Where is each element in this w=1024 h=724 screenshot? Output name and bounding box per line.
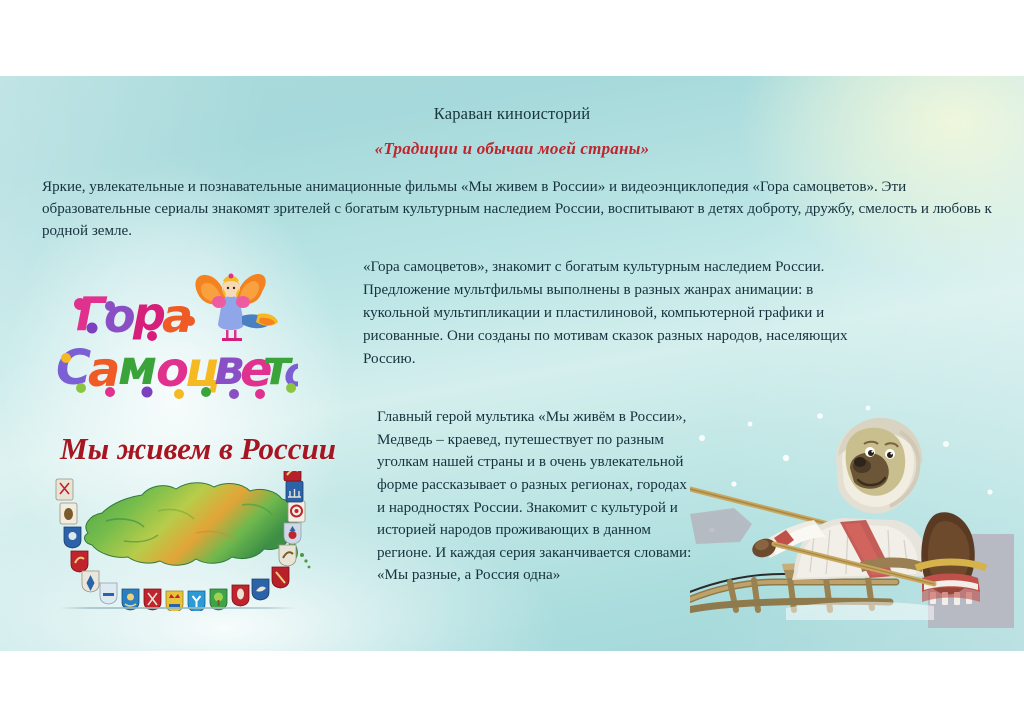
slide-page: Караван киноисторий «Традиции и обычаи м… bbox=[0, 0, 1024, 724]
bear-on-sled-illustration bbox=[690, 396, 1014, 651]
russia-landmass-icon bbox=[85, 483, 311, 569]
bear-character-icon bbox=[750, 418, 928, 580]
firebird-icon bbox=[195, 274, 278, 342]
slide-title: Караван киноисторий bbox=[0, 104, 1024, 124]
svg-text:м: м bbox=[118, 340, 157, 396]
paragraph-gora-samotsvetov: «Гора самоцветов», знакомит с богатым ку… bbox=[363, 256, 883, 371]
svg-text:о: о bbox=[104, 289, 136, 343]
slide-subtitle: «Традиции и обычаи моей страны» bbox=[0, 139, 1024, 159]
paragraph-my-zhivem-v-rossii: Главный герой мультика «Мы живём в Росси… bbox=[377, 406, 697, 587]
presentation-slide: Караван киноисторий «Традиции и обычаи м… bbox=[0, 76, 1024, 651]
intro-paragraph: Яркие, увлекательные и познавательные ан… bbox=[42, 176, 992, 243]
svg-text:а: а bbox=[88, 342, 120, 398]
my-zhivem-v-rossii-title: Мы живем в России bbox=[38, 431, 358, 471]
russia-map-illustration bbox=[46, 471, 336, 611]
horizontal-divider bbox=[60, 607, 296, 609]
svg-text:а: а bbox=[162, 289, 193, 343]
gora-samotsvetov-logo: .gs{font-family:"DejaVu Sans",sans-serif… bbox=[48, 266, 298, 401]
